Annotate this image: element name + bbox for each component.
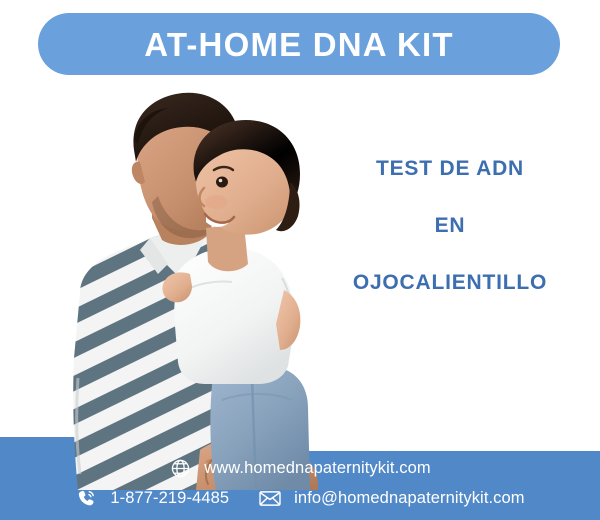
footer-row-phone-email: 1-877-219-4485 info@homednapaternitykit.… [0,483,600,513]
email-item[interactable]: info@homednapaternitykit.com [259,487,525,509]
poster-canvas: AT-HOME DNA KIT [0,0,600,520]
headline-line-2: EN [310,215,590,236]
envelope-icon [259,487,281,509]
headline-line-1: TEST DE ADN [310,158,590,179]
email-text: info@homednapaternitykit.com [294,490,525,507]
header-banner: AT-HOME DNA KIT [38,13,560,75]
footer-contact-info: www.homednapaternitykit.com 1-877-219-44… [0,437,600,520]
footer-row-website: www.homednapaternitykit.com [0,453,600,483]
page-title: AT-HOME DNA KIT [144,28,453,61]
headline-block: TEST DE ADN EN OJOCALIENTILLO [310,158,590,293]
hero-photo [0,78,330,490]
phone-text: 1-877-219-4485 [110,490,229,507]
globe-icon [169,457,191,479]
website-text: www.homednapaternitykit.com [204,460,430,477]
phone-icon [75,487,97,509]
headline-line-3: OJOCALIENTILLO [310,272,590,293]
website-item[interactable]: www.homednapaternitykit.com [169,457,430,479]
phone-item[interactable]: 1-877-219-4485 [75,487,229,509]
